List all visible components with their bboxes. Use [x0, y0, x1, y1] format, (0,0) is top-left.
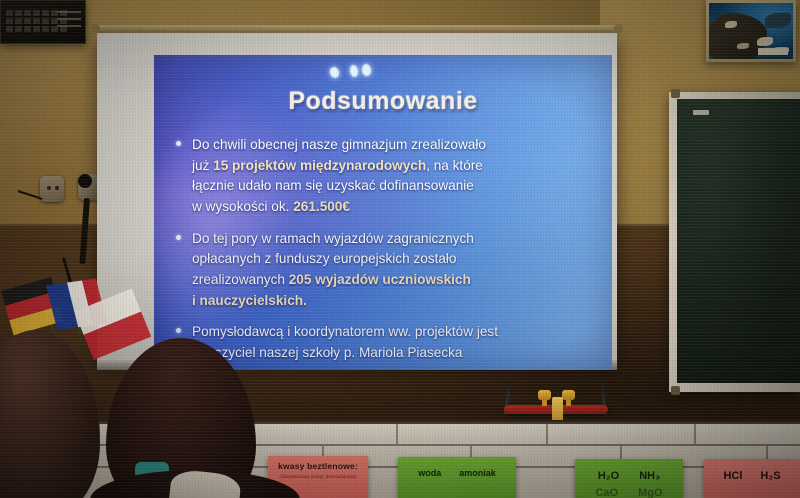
chalkboard: [677, 99, 800, 383]
chem-card-row: CaO MgO: [595, 487, 662, 498]
chem-card-green-words: woda amoniak: [398, 457, 516, 498]
slide-bullet-3: Pomysłodawcą i koordynatorem ww. projekt…: [172, 322, 598, 363]
screen-rod: [92, 25, 622, 33]
chem-card-subtitle: chlorowodorowy (solny), bromowodorowy: [279, 474, 356, 480]
wall-control-panel: [0, 0, 86, 44]
slide-title: Podsumowanie: [154, 87, 612, 116]
clamp-knob-1: [538, 390, 551, 400]
bullet-dot-icon: [176, 141, 181, 146]
chem-card-row: woda amoniak: [418, 468, 496, 478]
bullet-dot-icon: [176, 328, 181, 333]
chem-card-row: HCl H₂S: [723, 470, 780, 482]
formula-cao: CaO: [595, 487, 618, 498]
aquarium-poster-image: [709, 3, 793, 59]
chem-card-row: H₂O NH₃: [598, 470, 660, 482]
board-corner: [671, 89, 680, 98]
formula-h2s: H₂S: [760, 470, 780, 482]
classroom-photo-scene: Podsumowanie Do chwili obecnej nasze gim…: [0, 0, 800, 498]
tile-grout-v: [694, 424, 696, 444]
formula-mgo: MgO: [638, 487, 662, 498]
projector-screen: Podsumowanie Do chwili obecnej nasze gim…: [97, 32, 617, 362]
fish-icon: [765, 13, 791, 28]
screen-rod-knob-right: [614, 24, 623, 33]
screen-rod-knob-left: [91, 24, 100, 33]
chalkboard-frame: [669, 92, 800, 392]
tile-grout-v: [396, 424, 398, 444]
chem-term-ammonia: amoniak: [459, 468, 496, 478]
chem-card-title: kwasy beztlenowe:: [278, 461, 358, 471]
panel-text-icon: [57, 11, 81, 31]
fish-icon: [757, 37, 773, 46]
formula-hcl: HCl: [723, 470, 742, 482]
poster-caption: [758, 48, 788, 55]
clamp-knob-2: [562, 390, 575, 400]
formula-h2o: H₂O: [598, 470, 619, 482]
projector-glare-icon: [330, 64, 376, 78]
chem-term-water: woda: [418, 468, 441, 478]
fish-icon: [725, 21, 737, 28]
slide-bullet-2: Do tej pory w ramach wyjazdów zagraniczn…: [172, 229, 598, 312]
lab-clamp-stand: [498, 385, 618, 425]
slide-bullet-1: Do chwili obecnej nasze gimnazjum zreali…: [172, 135, 598, 218]
board-corner: [671, 386, 680, 395]
aquarium-poster: [706, 0, 796, 62]
chem-card-green-formulas: H₂O NH₃ CaO MgO: [575, 459, 683, 498]
board-clip-icon: [693, 110, 709, 115]
chem-card-pink-formulas: HCl H₂S: [704, 459, 800, 498]
slide-bullet-list: Do chwili obecnej nasze gimnazjum zreali…: [172, 135, 598, 370]
wall-socket-left: [40, 176, 64, 202]
fish-icon: [737, 43, 749, 49]
formula-nh3: NH₃: [639, 470, 660, 482]
presentation-slide: Podsumowanie Do chwili obecnej nasze gim…: [154, 55, 612, 370]
bullet-dot-icon: [176, 235, 181, 240]
tile-grout-v: [546, 424, 548, 444]
